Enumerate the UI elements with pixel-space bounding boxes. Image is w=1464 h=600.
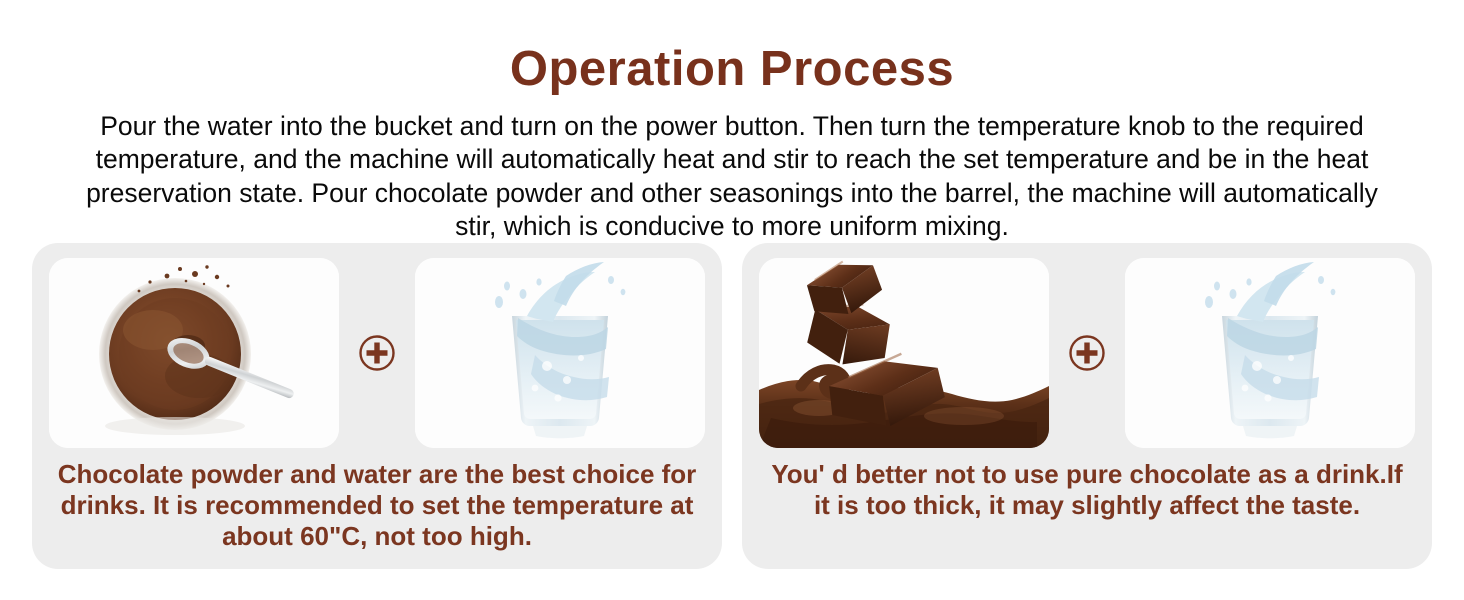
melting-chocolate-chunks-image (759, 258, 1049, 448)
card-caption: Chocolate powder and water are the best … (57, 459, 697, 552)
water-glass-splash-image (1125, 258, 1415, 448)
plus-circle-icon (357, 333, 397, 373)
card-pure-chocolate-and-water: You' d better not to use pure chocolate … (742, 243, 1432, 569)
plus-circle-icon (1067, 333, 1107, 373)
page-title: Operation Process (0, 41, 1464, 97)
cards-row: Chocolate powder and water are the best … (32, 243, 1432, 569)
card-chocolate-powder-and-water: Chocolate powder and water are the best … (32, 243, 722, 569)
water-glass-splash-image (415, 258, 705, 448)
intro-paragraph: Pour the water into the bucket and turn … (62, 110, 1402, 244)
card-caption: You' d better not to use pure chocolate … (767, 459, 1407, 521)
media-row (49, 258, 705, 448)
cocoa-powder-bowl-with-spoon-image (49, 258, 339, 448)
media-row (759, 258, 1415, 448)
